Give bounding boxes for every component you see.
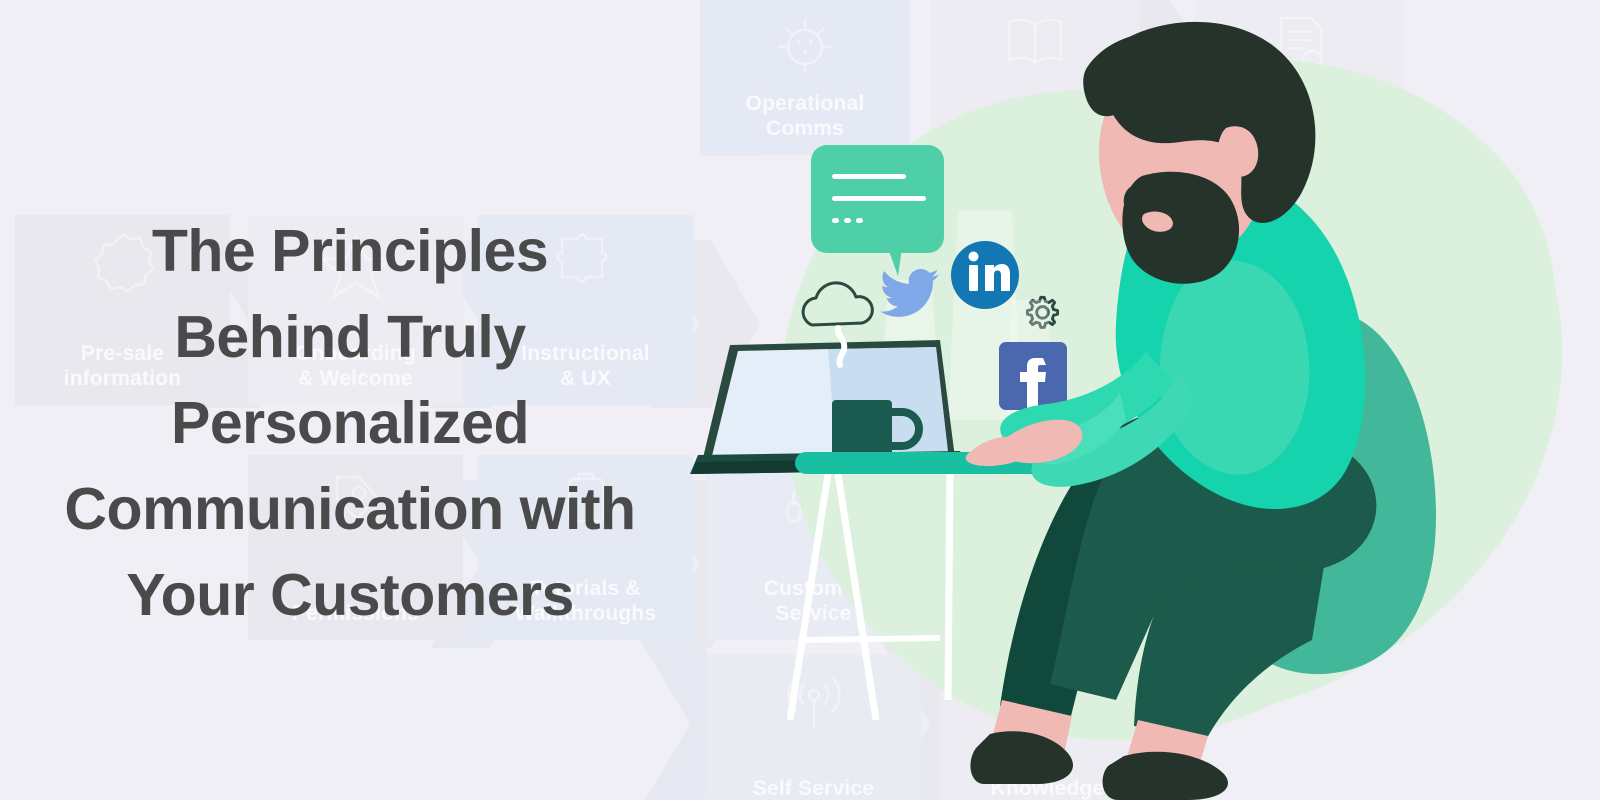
linkedin-icon — [951, 241, 1019, 309]
facebook-icon — [999, 342, 1067, 410]
page-title: The Principles Behind Truly Personalized… — [0, 208, 700, 638]
hero-banner: Operational Comms Administrative Comms C… — [0, 0, 1600, 800]
hero-illustration — [640, 0, 1600, 800]
